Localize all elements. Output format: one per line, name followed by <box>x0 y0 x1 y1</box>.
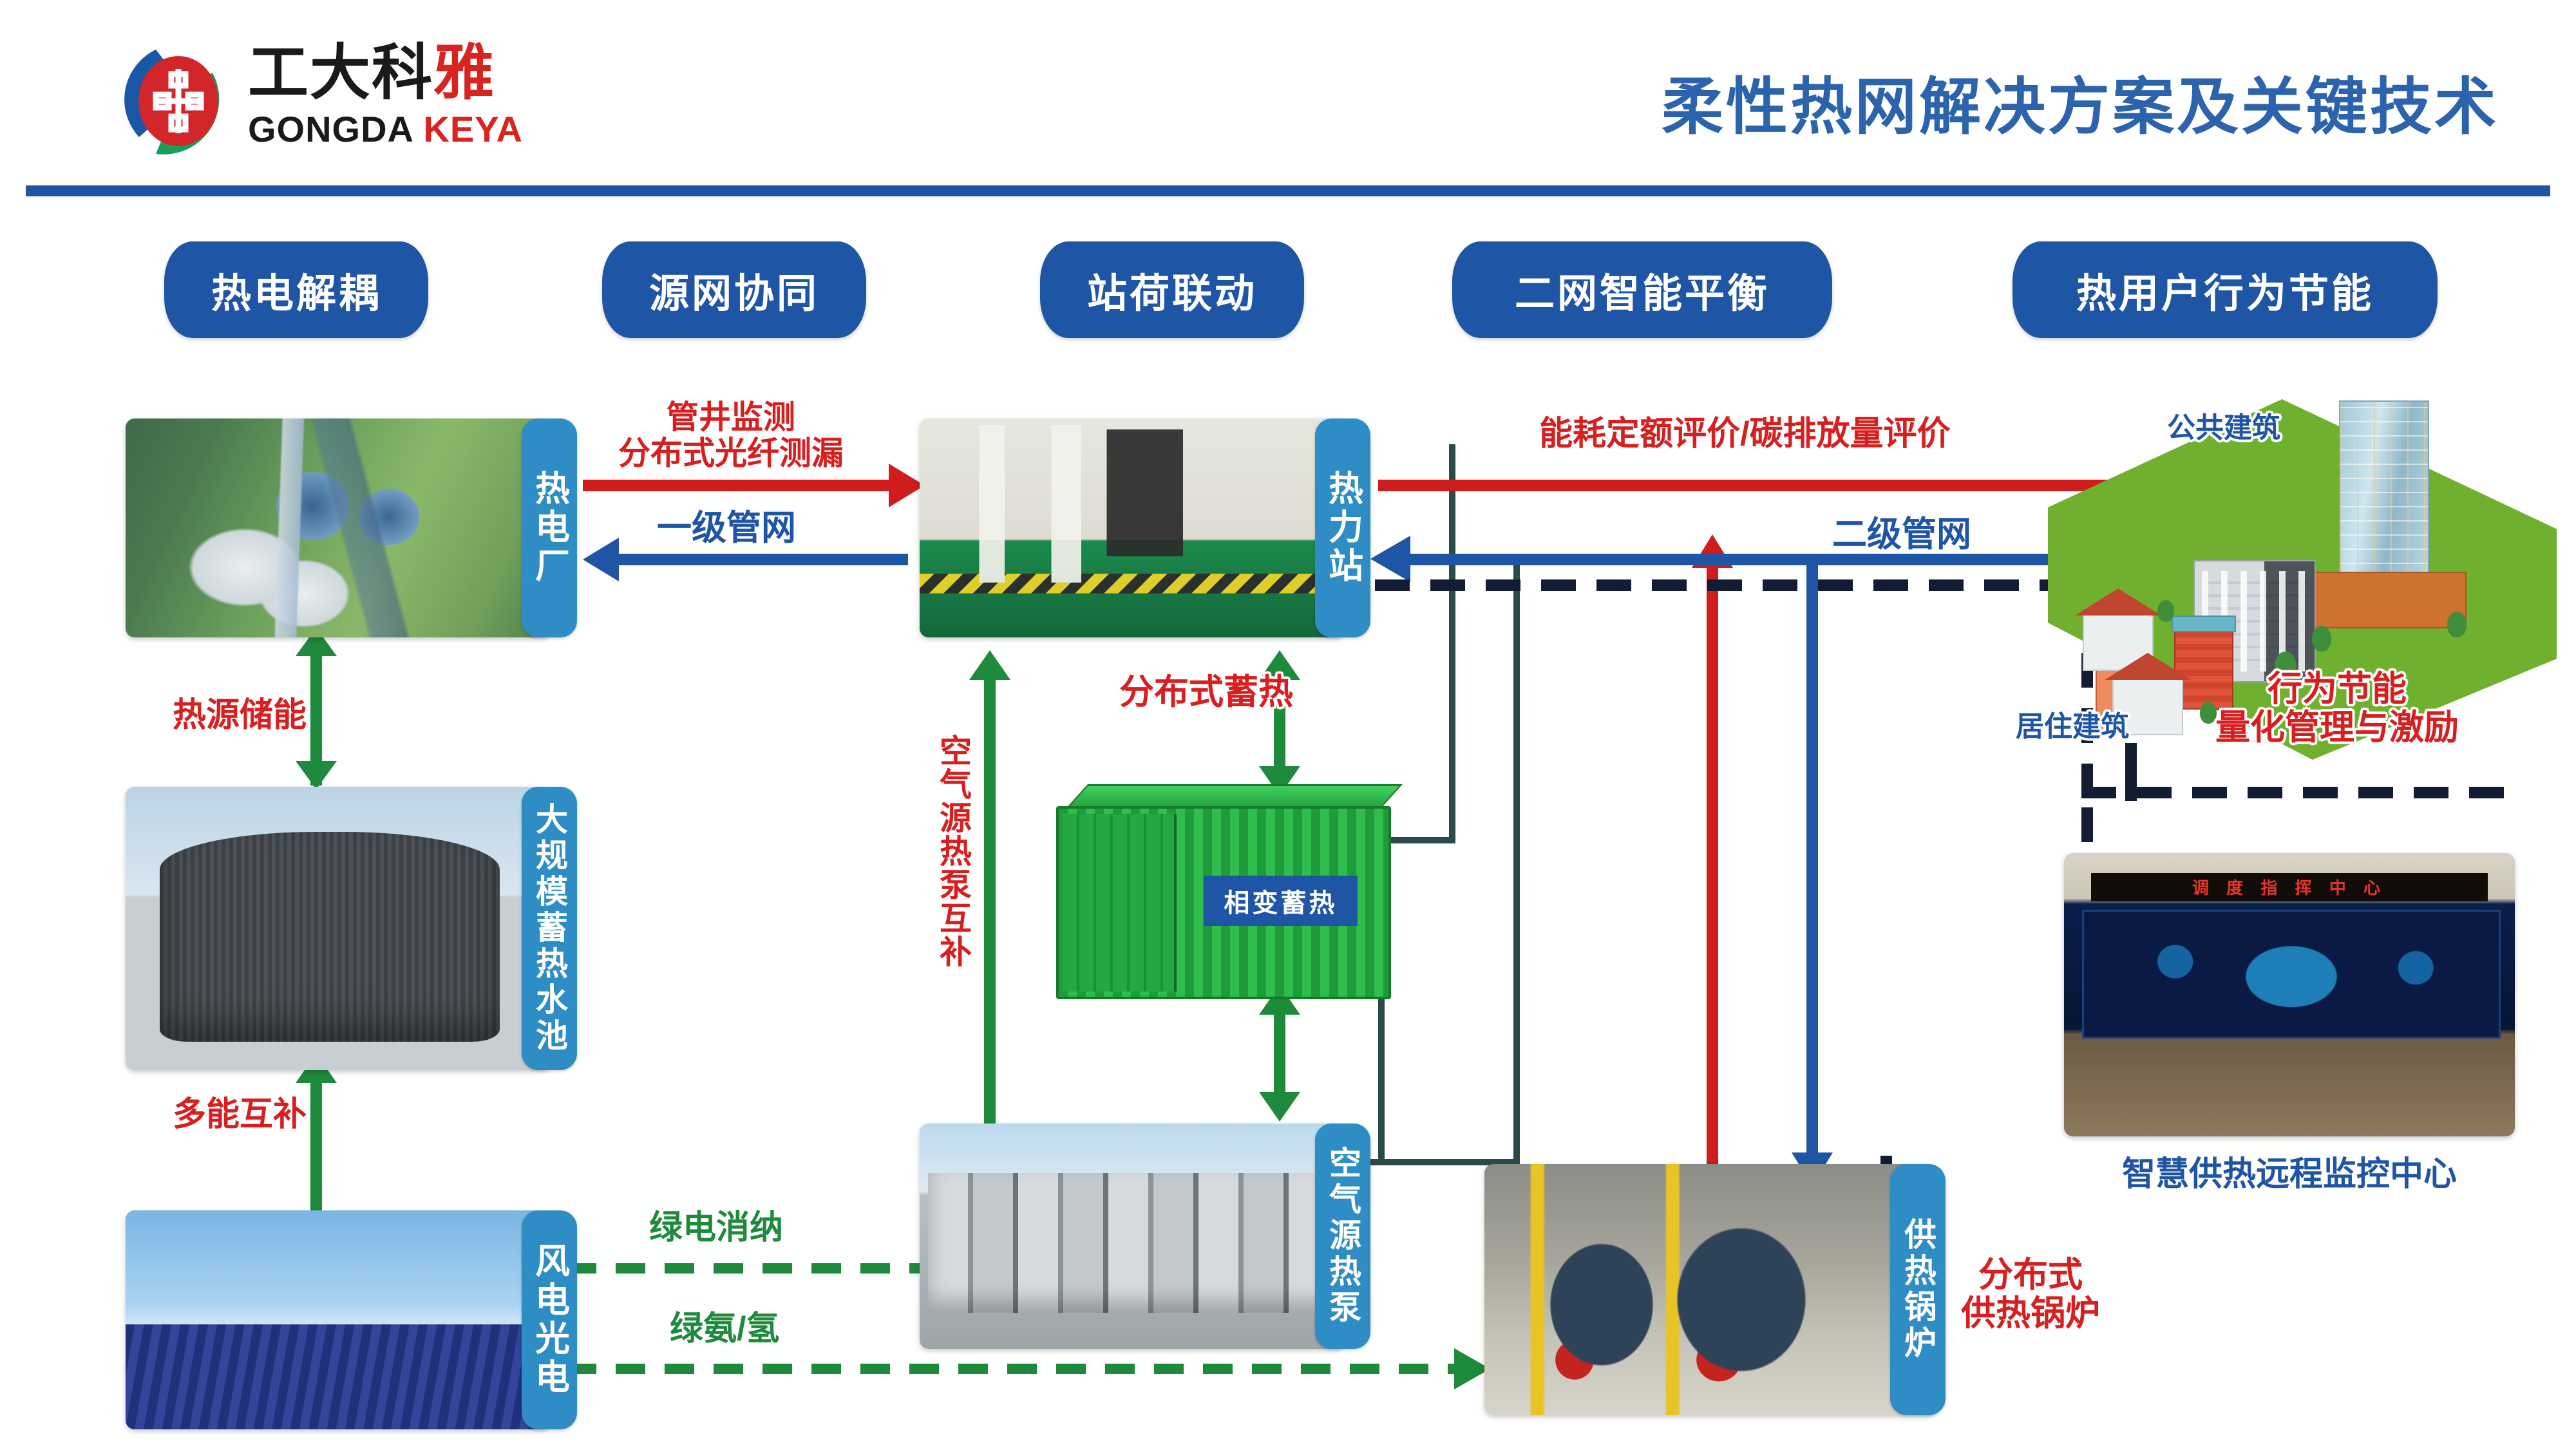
connector-city-to-station-arrowhead <box>1370 536 1410 582</box>
hot-water-pit-photo <box>126 787 551 1070</box>
label-remote-monitoring-center: 智慧供热远程监控中心 <box>2064 1156 2515 1193</box>
gongda-keya-logo-icon <box>116 41 238 160</box>
phase-change-storage-container: 相变蓄热 <box>1056 806 1391 999</box>
label-air-source-heat-pump-complement: 空气源热泵互补 <box>935 734 971 968</box>
pill-secondary-network-balance[interactable]: 二网智能平衡 <box>1452 241 1832 338</box>
page-title: 柔性热网解决方案及关键技术 <box>1662 57 2499 146</box>
pill-thermoelectric-decoupling[interactable]: 热电解耦 <box>164 241 428 338</box>
pill-source-network-synergy[interactable]: 源网协同 <box>602 241 866 338</box>
connector-heatpump-station-line <box>984 679 996 1124</box>
label-energy-quota-evaluation: 能耗定额评价/碳排放量评价 <box>1539 415 1950 453</box>
company-logo: 工大科雅 GONGDA KEYA <box>116 35 554 164</box>
header-divider <box>26 185 2550 196</box>
heat-station-tab: 热力站 <box>1315 418 1370 637</box>
label-secondary-network: 二级管网 <box>1832 515 1971 554</box>
label-primary-network: 一级管网 <box>657 509 796 547</box>
connector-blue-branch-to-boiler <box>1806 560 1818 1165</box>
label-multi-energy-complement: 多能互补 <box>173 1096 307 1133</box>
connector-heatpump-station-arrowhead <box>969 650 1010 680</box>
label-heat-source-storage: 热源储能 <box>173 697 307 734</box>
air-source-heat-pump-photo <box>920 1124 1345 1349</box>
link-container-loop-b-up <box>1513 560 1520 1165</box>
label-pipe-monitoring: 管井监测 分布式光纤测漏 <box>618 399 844 471</box>
tree-icon <box>2447 612 2467 637</box>
public-building-podium <box>2306 572 2467 628</box>
remote-monitoring-center-photo: 调 度 指 挥 中 心 <box>2064 853 2515 1136</box>
heating-boiler-tab: 供热锅炉 <box>1890 1164 1946 1415</box>
pill-station-load-linkage[interactable]: 站荷联动 <box>1040 241 1304 338</box>
label-residential-building: 居住建筑 <box>2016 711 2129 742</box>
pill-user-behavior-saving[interactable]: 热用户行为节能 <box>2012 241 2438 338</box>
connector-station-to-plant-line <box>618 554 908 565</box>
wind-solar-photo <box>126 1210 551 1429</box>
dashed-station-to-city-control <box>1375 579 2093 591</box>
logo-english-name: GONGDA KEYA <box>248 108 557 150</box>
container-doors <box>1063 814 1177 992</box>
label-distributed-heating-boiler: 分布式 供热锅炉 <box>1961 1255 2100 1333</box>
connector-station-to-plant-arrowhead <box>583 538 619 581</box>
connector-green-power-dashed <box>567 1263 927 1274</box>
heating-boiler-photo <box>1484 1164 1935 1415</box>
heat-station-photo <box>920 418 1345 637</box>
connector-boiler-red-riser <box>1707 567 1718 1223</box>
label-behavior-energy-saving: 行为节能 量化管理与激励 <box>2215 670 2459 748</box>
red-apartment-roof <box>2172 616 2236 632</box>
link-container-loop-a-up <box>1449 444 1455 843</box>
page-header: 工大科雅 GONGDA KEYA 柔性热网解决方案及关键技术 <box>0 0 2576 193</box>
wind-solar-tab: 风电光电 <box>522 1210 577 1429</box>
label-green-power-consumption: 绿电消纳 <box>649 1209 783 1246</box>
power-plant-photo <box>126 418 551 637</box>
power-plant-tab: 热电厂 <box>522 418 577 637</box>
logo-wordmark: 工大科雅 GONGDA KEYA <box>248 42 557 158</box>
container-label: 相变蓄热 <box>1204 876 1358 926</box>
public-building-tower <box>2339 400 2429 594</box>
connector-green-ammonia-dashed <box>567 1364 1462 1374</box>
label-distributed-storage: 分布式蓄热 <box>1119 673 1293 711</box>
connector-plant-pit-down-arrowhead <box>296 761 337 789</box>
logo-chinese-name: 工大科雅 <box>248 42 557 106</box>
control-room-led-banner: 调 度 指 挥 中 心 <box>2091 873 2488 901</box>
connector-plant-to-station-line <box>583 480 898 491</box>
tree-icon <box>2200 702 2217 724</box>
tree-icon <box>2157 600 2174 622</box>
dashed-control-horizontal-b <box>2081 787 2506 798</box>
hot-water-pit-tab: 大规模蓄热水池 <box>522 787 577 1070</box>
air-source-heat-pump-tab: 空气源热泵 <box>1315 1124 1370 1349</box>
label-green-ammonia-hydrogen: 绿氨/氢 <box>670 1310 779 1348</box>
connector-wind-pit-line <box>310 1082 322 1210</box>
tree-icon <box>2312 626 2331 652</box>
connector-storage-heatpump-down-arrowhead <box>1259 1092 1300 1122</box>
label-public-building: 公共建筑 <box>2167 412 2280 444</box>
